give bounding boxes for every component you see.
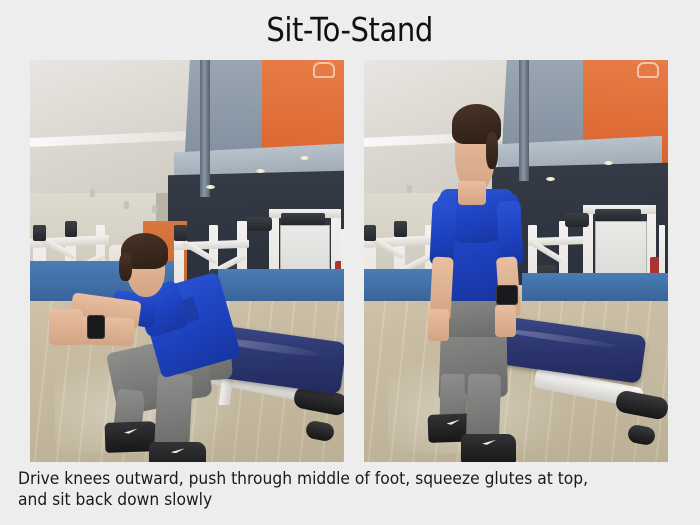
track-light-icon bbox=[152, 205, 157, 213]
structural-pillar bbox=[200, 60, 210, 197]
nike-swoosh-icon bbox=[482, 440, 496, 445]
ceiling-light-icon bbox=[256, 169, 265, 173]
person-hand-right bbox=[495, 305, 516, 337]
ceiling-light-icon bbox=[604, 161, 613, 165]
rack-pad bbox=[364, 225, 376, 241]
exercise-photo-right bbox=[364, 60, 668, 462]
gym-scene-left bbox=[30, 60, 344, 462]
machine-pulley bbox=[247, 217, 272, 231]
person-shin-front bbox=[154, 373, 192, 451]
person-shoe-front bbox=[149, 442, 206, 462]
person-sleeve-left bbox=[429, 200, 457, 265]
person-hand-left bbox=[428, 309, 449, 341]
floor-mat-blue bbox=[522, 273, 668, 301]
person-sideburn bbox=[486, 132, 498, 168]
gym-wall-logo-icon bbox=[313, 62, 335, 78]
person-hands bbox=[49, 309, 84, 345]
machine-pulley bbox=[281, 213, 325, 225]
wrist-watch bbox=[496, 285, 517, 305]
machine-pulley bbox=[595, 209, 641, 221]
gym-scene-right bbox=[364, 60, 668, 462]
rack-pad bbox=[65, 221, 78, 237]
person-sleeve-right bbox=[496, 200, 524, 265]
machine-pulley bbox=[565, 213, 589, 227]
nike-swoosh-icon bbox=[171, 448, 185, 453]
page-title: Sit-To-Stand bbox=[0, 0, 700, 58]
rack-pad bbox=[394, 221, 406, 237]
ceiling-light-icon bbox=[206, 185, 215, 189]
nike-swoosh-icon bbox=[446, 419, 460, 424]
person-sideburn bbox=[119, 253, 132, 281]
exercise-photo-left bbox=[30, 60, 344, 462]
structural-pillar bbox=[519, 60, 529, 181]
rack-pad bbox=[174, 225, 187, 241]
wrist-watch bbox=[87, 315, 106, 339]
person-neck bbox=[458, 181, 485, 205]
ceiling-light-icon bbox=[546, 177, 555, 181]
track-light-icon bbox=[407, 185, 412, 193]
exercise-caption: Drive knees outward, push through middle… bbox=[18, 468, 646, 510]
track-light-icon bbox=[90, 189, 95, 197]
floor-mat-blue bbox=[218, 269, 344, 301]
person-shin-front bbox=[466, 373, 502, 442]
gym-wall-logo-icon bbox=[637, 62, 659, 78]
rack-pad bbox=[33, 225, 46, 241]
nike-swoosh-icon bbox=[124, 428, 138, 433]
person-shoe-front bbox=[461, 434, 516, 462]
track-light-icon bbox=[124, 201, 129, 209]
page-title-text: Sit-To-Stand bbox=[267, 10, 433, 49]
